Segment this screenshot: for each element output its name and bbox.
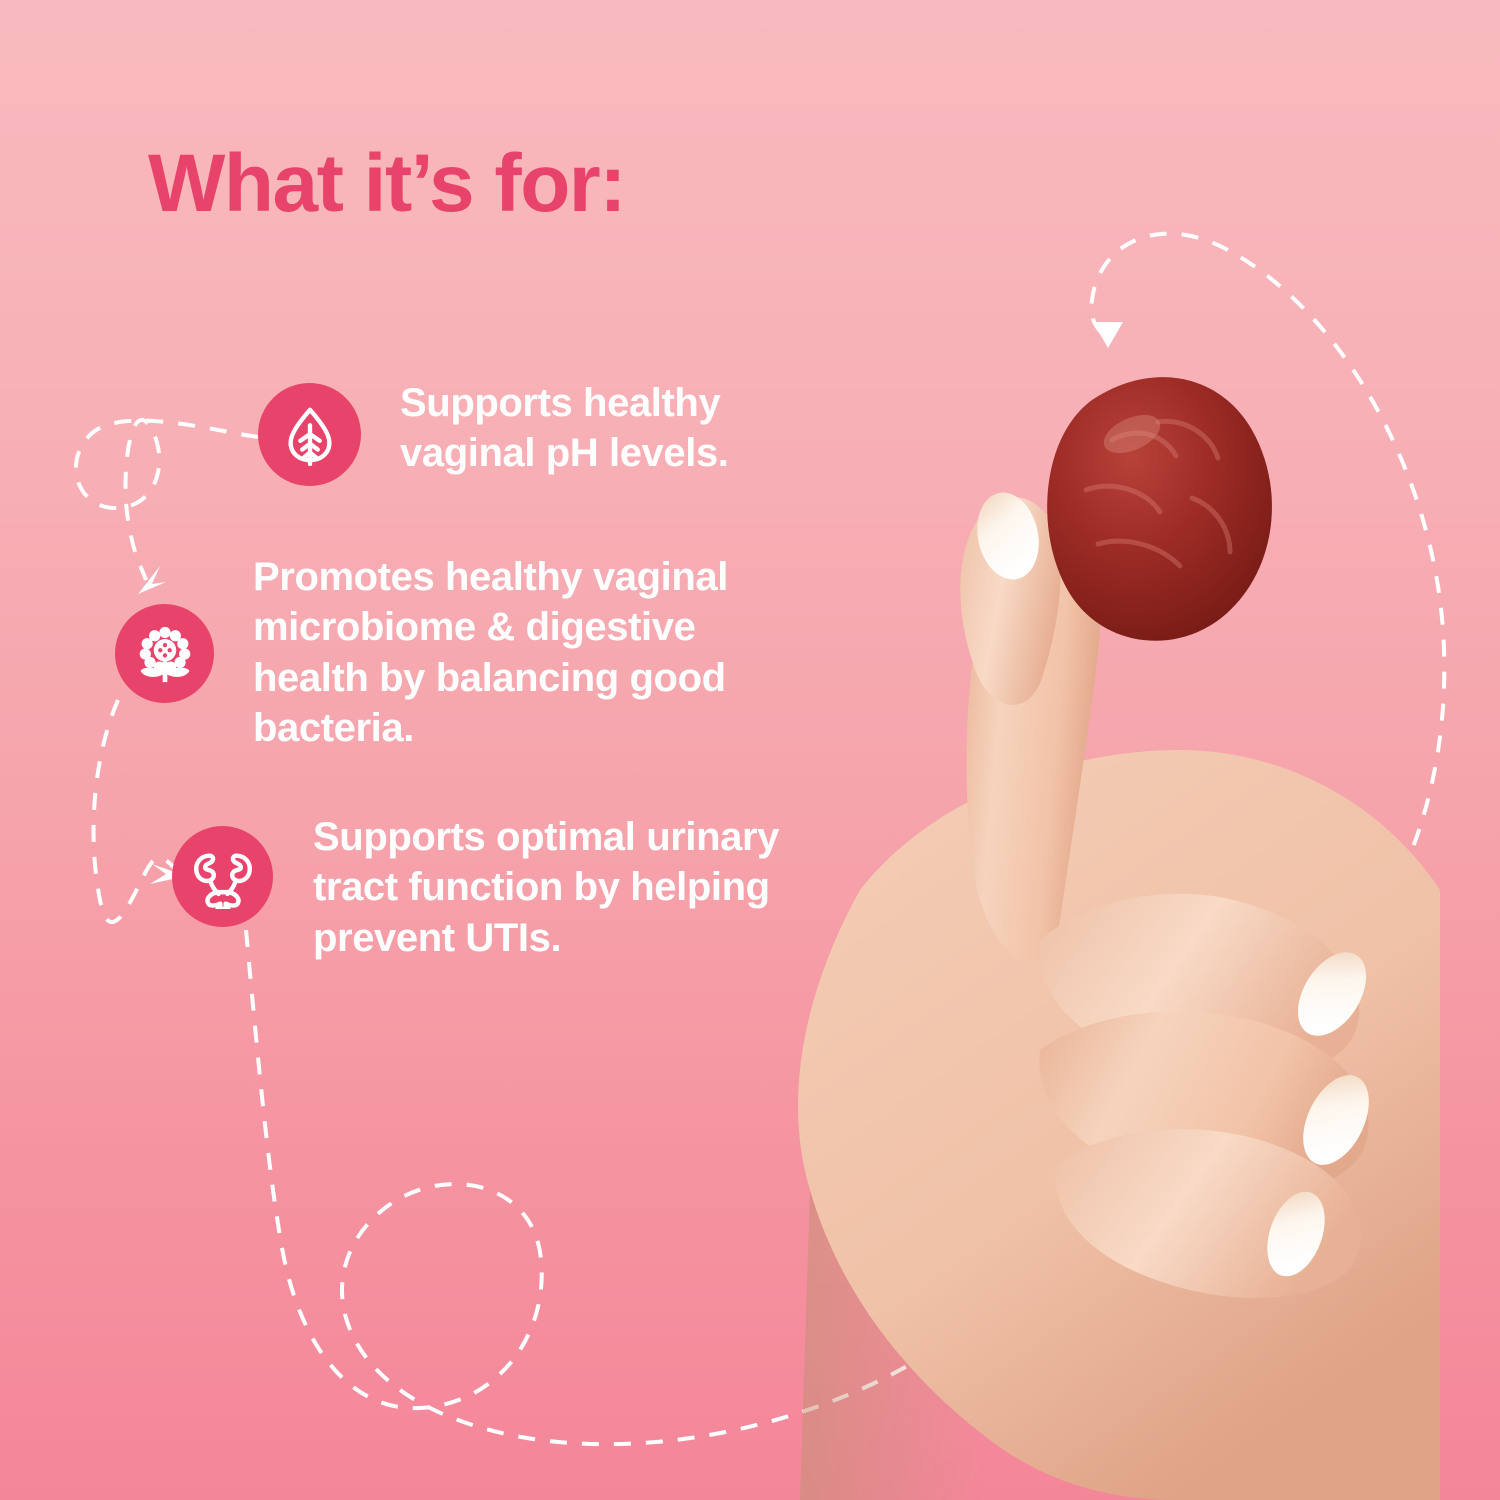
product-benefits-graphic: What it’s for: Supports healthy vaginal … [0,0,1500,1500]
benefit-text: Supports healthy vaginal pH levels. [400,378,830,479]
benefit-text: Supports optimal urinary tract function … [313,812,873,963]
benefit-text: Promotes healthy vaginal microbiome & di… [253,552,813,754]
arrowhead-icon [138,566,166,594]
flower-icon [115,604,214,703]
kidneys-urinary-tract-icon [172,826,273,927]
page-title: What it’s for: [148,143,625,225]
leaf-icon [258,383,361,486]
